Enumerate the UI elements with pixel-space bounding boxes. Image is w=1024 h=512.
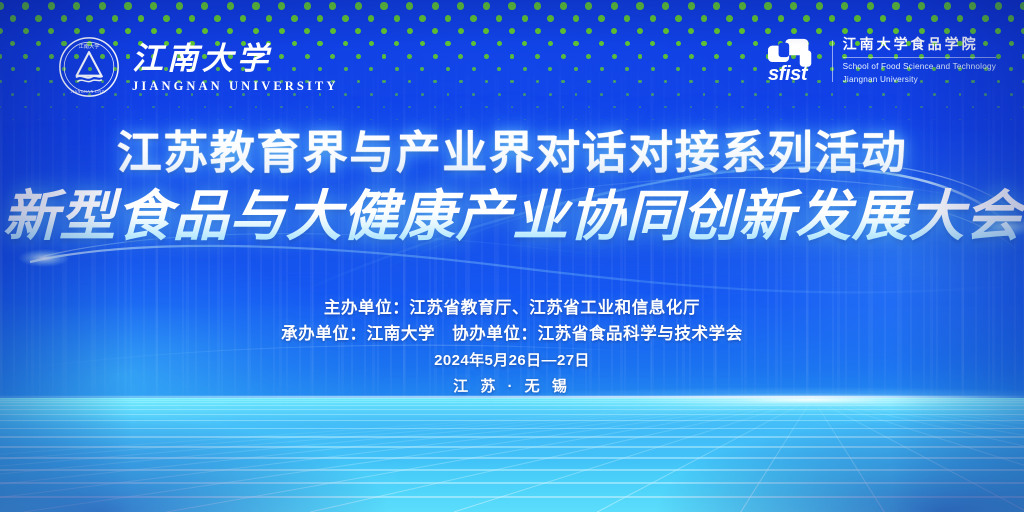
halftone-dot (675, 15, 682, 22)
halftone-dot (906, 15, 913, 22)
halftone-dot (266, 15, 273, 22)
floor-grid-line-vertical (740, 398, 813, 512)
halftone-dot (473, 119, 475, 121)
halftone-dot (664, 106, 666, 108)
halftone-dot (626, 119, 628, 121)
halftone-dot (433, 80, 436, 83)
halftone-dot (329, 2, 336, 9)
halftone-dot (613, 106, 615, 108)
halftone-dot (496, 15, 503, 22)
floor-grid-line-vertical (167, 398, 813, 512)
halftone-dot (690, 106, 692, 108)
halftone-dot (548, 41, 553, 46)
floor-grid-line-vertical (0, 398, 813, 512)
halftone-dot (741, 80, 744, 83)
halftone-dot (574, 67, 578, 71)
halftone-dot (754, 119, 756, 121)
halftone-dot (433, 54, 438, 59)
floor-grid-line-horizontal (0, 400, 1024, 401)
floor-grid-line-vertical (454, 398, 813, 512)
halftone-dot (332, 106, 334, 108)
floor-grid-line-horizontal (0, 409, 1024, 410)
halftone-dot (970, 28, 976, 34)
floor-grid-line-vertical (0, 398, 813, 512)
halftone-dot (969, 2, 976, 9)
floor-grid-line-vertical (812, 398, 1024, 512)
halftone-dot (227, 28, 233, 34)
halftone-dot (112, 15, 119, 22)
halftone-dot (919, 28, 925, 34)
halftone-dot (638, 80, 641, 83)
halftone-dot (726, 15, 733, 22)
halftone-dot (663, 54, 668, 59)
floor-grid-line-horizontal (0, 446, 1024, 448)
halftone-dot (278, 2, 285, 9)
halftone-dot (394, 41, 399, 46)
halftone-dot (678, 119, 680, 121)
halftone-dot (114, 119, 116, 121)
halftone-dot (355, 28, 361, 34)
floor-grid-line-vertical (310, 398, 812, 512)
floor-grid-line-vertical (812, 398, 1024, 512)
floor-grid-line-vertical (597, 398, 813, 512)
floor-grid-line-vertical (812, 398, 1024, 512)
halftone-dot (715, 80, 718, 83)
floor-grid-line-horizontal (0, 402, 1024, 403)
halftone-dot (10, 15, 17, 22)
floor-grid-line-vertical (812, 398, 1024, 512)
halftone-dot (150, 2, 157, 9)
halftone-dot (408, 80, 411, 83)
halftone-dot (343, 41, 348, 46)
halftone-dot (779, 93, 782, 96)
halftone-dot (688, 28, 694, 34)
halftone-dot (893, 28, 899, 34)
halftone-dot (217, 119, 219, 121)
jiangnan-university-logo: 江南大学 JIANGNAN UNIV. 江南大学 JIANGNAN UNIVER… (58, 36, 339, 98)
halftone-dot (370, 93, 373, 96)
halftone-dot (484, 54, 489, 59)
halftone-dot (765, 28, 771, 34)
halftone-dot (395, 67, 399, 71)
halftone-dot (523, 93, 526, 96)
halftone-dot (458, 28, 464, 34)
halftone-dot (510, 54, 515, 59)
floor-highlight-plate (700, 476, 850, 490)
halftone-dot (739, 2, 746, 9)
halftone-dot (599, 41, 604, 46)
halftone-dot (176, 28, 182, 34)
food-school-name-cn: 江南大学食品学院 (843, 37, 996, 52)
banner-title-block: 江苏教育界与产业界对话对接系列活动 新型食品与大健康产业协同创新发展大会 (0, 128, 1024, 248)
halftone-dot (240, 15, 247, 22)
halftone-dot (806, 119, 808, 121)
halftone-dot (445, 15, 452, 22)
halftone-dot (11, 67, 15, 71)
halftone-dot (764, 2, 771, 9)
halftone-dot (702, 67, 706, 71)
halftone-dot (880, 15, 887, 22)
floor-grid-line-vertical (812, 398, 1024, 512)
halftone-dot (918, 2, 925, 9)
halftone-dot (151, 28, 157, 34)
host-organization: 主办单位：江苏省教育厅、江苏省工业和信息化厅 (0, 296, 1024, 322)
halftone-dot (382, 80, 385, 83)
halftone-dot (345, 119, 347, 121)
halftone-dot (36, 67, 40, 71)
halftone-dot (907, 93, 910, 96)
halftone-dot (319, 119, 321, 121)
halftone-dot (535, 54, 540, 59)
halftone-dot (432, 2, 439, 9)
halftone-dot (561, 54, 566, 59)
halftone-dot (35, 15, 42, 22)
halftone-dot (536, 80, 539, 83)
halftone-dot (11, 93, 14, 96)
halftone-dot (625, 67, 629, 71)
halftone-dot (778, 15, 785, 22)
floor-tint (0, 398, 1024, 512)
halftone-dot (1010, 93, 1013, 96)
halftone-dot (344, 67, 348, 71)
halftone-dot (509, 28, 515, 34)
halftone-dot (470, 15, 477, 22)
halftone-dot (740, 54, 745, 59)
food-school-wordmark: 江南大学食品学院 School of Food Science and Tech… (843, 37, 996, 85)
halftone-dot (892, 2, 899, 9)
halftone-dot (483, 28, 489, 34)
halftone-dot (201, 2, 208, 9)
halftone-dot (498, 93, 501, 96)
halftone-dot (138, 15, 145, 22)
halftone-dot (370, 119, 372, 121)
halftone-dot (0, 54, 2, 59)
halftone-dot (920, 106, 922, 108)
halftone-dot (854, 15, 861, 22)
halftone-dot (727, 41, 732, 46)
jiangnan-university-wordmark: 江南大学 JIANGNAN UNIVERSITY (132, 41, 339, 94)
halftone-dot (508, 2, 515, 9)
halftone-dot (560, 28, 566, 34)
halftone-dot (74, 28, 80, 34)
halftone-dot (383, 106, 385, 108)
halftone-dot (242, 119, 244, 121)
halftone-dot (703, 119, 705, 121)
halftone-dot (934, 119, 936, 121)
halftone-dot (1009, 41, 1014, 46)
halftone-dot (997, 80, 1000, 83)
halftone-dot (152, 106, 154, 108)
halftone-dot (882, 119, 884, 121)
wordmark-rule (843, 57, 996, 58)
halftone-dot (422, 119, 424, 121)
halftone-dot (714, 54, 719, 59)
halftone-dot (124, 2, 131, 9)
halftone-dot (831, 119, 833, 121)
halftone-dot (535, 28, 541, 34)
halftone-dot (497, 67, 501, 71)
halftone-dot (842, 28, 848, 34)
halftone-dot (342, 15, 349, 22)
halftone-dot (432, 28, 438, 34)
floor-grid-line-horizontal (0, 469, 1024, 471)
floor-grid-line-horizontal (0, 482, 1024, 484)
halftone-dot (202, 28, 208, 34)
halftone-dot (317, 15, 324, 22)
halftone-dot (306, 106, 308, 108)
halftone-dot (279, 28, 285, 34)
halftone-dot (713, 2, 720, 9)
halftone-dot (0, 80, 2, 83)
halftone-dot (1020, 2, 1024, 9)
halftone-dot (408, 106, 410, 108)
halftone-dot (1009, 67, 1013, 71)
halftone-dot (304, 28, 310, 34)
halftone-dot (739, 28, 745, 34)
halftone-dot (0, 106, 1, 108)
halftone-dot (457, 2, 464, 9)
halftone-dot (791, 28, 797, 34)
banner-info-block: 主办单位：江苏省教育厅、江苏省工业和信息化厅 承办单位：江南大学 协办单位：江苏… (0, 296, 1024, 400)
halftone-dot (816, 2, 823, 9)
halftone-dot (959, 93, 962, 96)
halftone-dot (421, 93, 424, 96)
halftone-dot (560, 2, 567, 9)
halftone-dot (790, 2, 797, 9)
perspective-grid-floor (0, 398, 1024, 512)
halftone-dot (957, 15, 964, 22)
halftone-dot (944, 2, 951, 9)
halftone-dot (227, 2, 234, 9)
halftone-dot (252, 2, 259, 9)
halftone-dot (612, 54, 617, 59)
food-school-name-en-line1: School of Food Science and Technology (843, 61, 996, 72)
halftone-dot (10, 41, 15, 46)
halftone-dot (483, 2, 490, 9)
halftone-dot (677, 93, 680, 96)
halftone-dot (753, 41, 758, 46)
halftone-dot (471, 41, 476, 46)
halftone-dot (447, 93, 450, 96)
halftone-dot (933, 93, 936, 96)
halftone-dot (598, 15, 605, 22)
floor-grid-line-vertical (812, 398, 1024, 512)
halftone-dot (714, 28, 720, 34)
halftone-dot (163, 15, 170, 22)
halftone-dot (49, 54, 54, 59)
halftone-dot (178, 106, 180, 108)
halftone-dot (662, 2, 669, 9)
event-date: 2024年5月26日—27日 (0, 347, 1024, 374)
halftone-dot (664, 80, 667, 83)
halftone-dot (651, 67, 655, 71)
halftone-dot (585, 2, 592, 9)
floor-grid-line-horizontal (0, 436, 1024, 438)
halftone-dot (626, 93, 629, 96)
floor-highlight-plate (196, 468, 396, 484)
floor-grid-line-vertical (812, 398, 1024, 512)
halftone-dot (255, 106, 257, 108)
halftone-dot (176, 2, 183, 9)
halftone-dot (575, 119, 577, 121)
halftone-dot (944, 28, 950, 34)
halftone-dot (982, 15, 989, 22)
halftone-dot (701, 15, 708, 22)
halftone-dot (344, 93, 347, 96)
halftone-dot (511, 106, 513, 108)
halftone-dot (395, 93, 398, 96)
halftone-dot (754, 93, 757, 96)
halftone-dot (728, 93, 731, 96)
halftone-dot (984, 93, 987, 96)
halftone-dot (89, 119, 91, 121)
floor-highlight-plate (800, 498, 990, 510)
halftone-dot (931, 15, 938, 22)
halftone-dot (446, 67, 450, 71)
halftone-dot (676, 41, 681, 46)
halftone-dot (586, 54, 591, 59)
halftone-dot (841, 2, 848, 9)
halftone-dot (368, 15, 375, 22)
floor-grid-line-horizontal (0, 414, 1024, 415)
svg-text:sfist: sfist (768, 63, 809, 85)
halftone-dot (49, 80, 52, 83)
halftone-dot (588, 106, 590, 108)
floor-grid-line-vertical (0, 398, 813, 512)
halftone-dot (73, 2, 80, 9)
halftone-dot (50, 106, 52, 108)
halftone-dot (38, 119, 40, 121)
halftone-dot (959, 119, 961, 121)
halftone-dot (99, 2, 106, 9)
floor-grid-line-vertical (812, 398, 1024, 512)
floor-grid-line-vertical (23, 398, 812, 512)
floor-grid-line-vertical (0, 398, 813, 512)
halftone-dot (573, 41, 578, 46)
halftone-dot (445, 41, 450, 46)
halftone-dot (420, 67, 424, 71)
halftone-dot (101, 106, 103, 108)
halftone-dot (191, 119, 193, 121)
jiangnan-university-name-cn: 江南大学 (132, 41, 272, 76)
halftone-dot (460, 106, 462, 108)
halftone-dot (394, 15, 401, 22)
halftone-dot (253, 28, 259, 34)
halftone-dot (818, 106, 820, 108)
halftone-dot (637, 28, 643, 34)
floor-grid-line-vertical (812, 398, 885, 512)
halftone-dot (140, 119, 142, 121)
jiangnan-university-seal-icon: 江南大学 JIANGNAN UNIV. (58, 36, 120, 98)
halftone-dot (561, 80, 564, 83)
halftone-dot (650, 41, 655, 46)
halftone-dot (636, 2, 643, 9)
halftone-dot (420, 41, 425, 46)
halftone-dot (485, 80, 488, 83)
halftone-dot (857, 119, 859, 121)
halftone-dot (728, 67, 732, 71)
halftone-dot (547, 15, 554, 22)
halftone-dot (600, 67, 604, 71)
event-location: 江 苏 · 无 锡 (0, 374, 1024, 400)
halftone-dot (268, 119, 270, 121)
halftone-dot (125, 28, 131, 34)
halftone-dot (805, 93, 808, 96)
halftone-dot (369, 41, 374, 46)
halftone-dot (548, 67, 552, 71)
halftone-dot (498, 119, 500, 121)
halftone-dot (767, 106, 769, 108)
halftone-dot (214, 15, 221, 22)
food-school-logo: sfist 江南大学食品学院 School of Food Science an… (764, 36, 996, 86)
halftone-dot (908, 119, 910, 121)
floor-grid-line-vertical (812, 398, 1024, 512)
halftone-dot (780, 119, 782, 121)
halftone-dot (946, 106, 948, 108)
halftone-dot (816, 28, 822, 34)
halftone-dot (829, 15, 836, 22)
halftone-dot (447, 119, 449, 121)
halftone-dot (882, 93, 885, 96)
halftone-dot (459, 80, 462, 83)
halftone-dot (294, 119, 296, 121)
halftone-dot (407, 54, 412, 59)
floor-grid-line-horizontal (0, 420, 1024, 421)
halftone-dot (419, 15, 426, 22)
halftone-dot (523, 67, 527, 71)
halftone-dot (575, 93, 578, 96)
halftone-dot (856, 93, 859, 96)
halftone-dot (36, 41, 41, 46)
halftone-dot (688, 2, 695, 9)
halftone-dot (472, 67, 476, 71)
halftone-dot (587, 80, 590, 83)
halftone-dot (752, 15, 759, 22)
halftone-dot (407, 28, 413, 34)
conference-banner: 江南大学 JIANGNAN UNIV. 江南大学 JIANGNAN UNIVER… (0, 0, 1024, 512)
halftone-dot (613, 80, 616, 83)
halftone-dot (0, 28, 3, 34)
halftone-dot (716, 106, 718, 108)
halftone-dot (703, 93, 706, 96)
halftone-dot (357, 80, 360, 83)
halftone-dot (729, 119, 731, 121)
halftone-dot (689, 54, 694, 59)
halftone-dot (356, 54, 361, 59)
halftone-dot (510, 80, 513, 83)
halftone-dot (0, 2, 4, 9)
floor-shade (0, 398, 1024, 512)
halftone-dot (76, 106, 78, 108)
halftone-dot (189, 15, 196, 22)
floor-grid-line-horizontal (0, 428, 1024, 429)
halftone-dot (601, 119, 603, 121)
halftone-dot (522, 15, 529, 22)
halftone-dot (48, 2, 55, 9)
halftone-dot (22, 2, 29, 9)
halftone-dot (803, 15, 810, 22)
halftone-dot (37, 93, 40, 96)
halftone-dot (549, 93, 552, 96)
halftone-dot (291, 15, 298, 22)
halftone-dot (381, 28, 387, 34)
halftone-dot (63, 119, 65, 121)
halftone-dot (24, 106, 26, 108)
halftone-dot (24, 80, 27, 83)
halftone-dot (497, 41, 502, 46)
halftone-dot (166, 119, 168, 121)
halftone-dot (61, 15, 68, 22)
